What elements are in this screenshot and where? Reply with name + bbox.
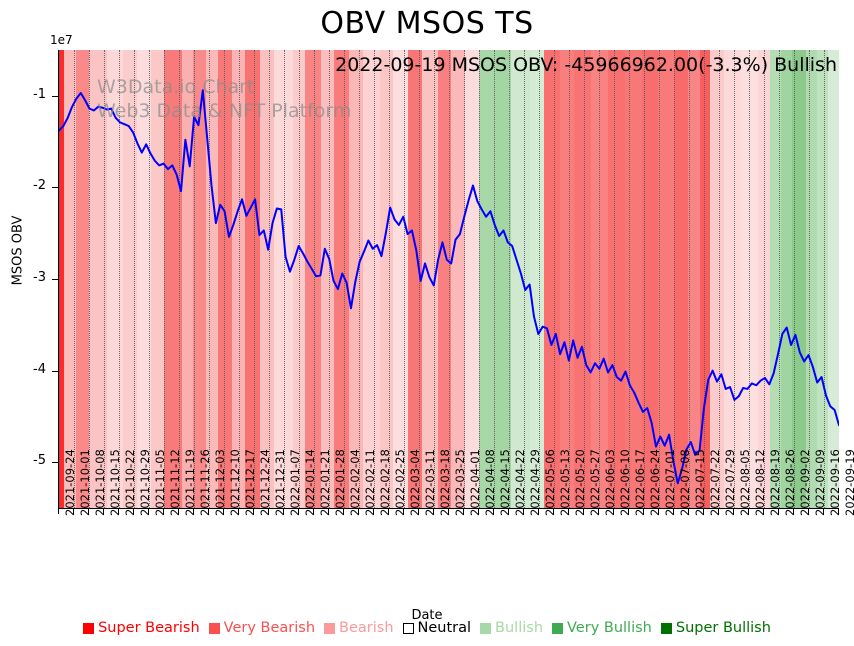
x-tick-label: 2021-09-24 bbox=[63, 449, 77, 516]
x-tick-label: 2022-05-27 bbox=[588, 449, 602, 516]
x-tick-label: 2021-10-08 bbox=[93, 449, 107, 516]
x-tick-label: 2022-06-03 bbox=[603, 449, 617, 516]
legend-item[interactable]: Bearish bbox=[324, 620, 394, 636]
x-tick-label: 2022-06-17 bbox=[633, 449, 647, 516]
x-tick-label: 2021-11-19 bbox=[183, 449, 197, 516]
x-tick-label: 2022-07-29 bbox=[723, 449, 737, 516]
x-tick-label: 2022-04-29 bbox=[528, 449, 542, 516]
x-tick-label: 2022-04-08 bbox=[483, 449, 497, 516]
x-tick-label: 2022-06-10 bbox=[618, 449, 632, 516]
legend-label: Super Bullish bbox=[676, 620, 771, 636]
legend-label: Super Bearish bbox=[98, 620, 200, 636]
legend-item[interactable]: Very Bearish bbox=[209, 620, 315, 636]
x-tick-label: 2022-02-11 bbox=[363, 449, 377, 516]
x-tick-label: 2022-09-02 bbox=[798, 449, 812, 516]
chart-figure: OBV MSOS TS 1e7 MSOS OBV Date -1-2-3-4-5… bbox=[0, 0, 854, 646]
legend-item[interactable]: Neutral bbox=[403, 620, 472, 636]
legend-label: Bullish bbox=[495, 620, 543, 636]
x-tick-label: 2021-12-03 bbox=[213, 449, 227, 516]
x-tick-label: 2022-02-18 bbox=[378, 449, 392, 516]
legend-item[interactable]: Bullish bbox=[480, 620, 543, 636]
legend-item[interactable]: Super Bearish bbox=[83, 620, 200, 636]
x-tick-label: 2022-07-15 bbox=[693, 449, 707, 516]
current-value-annotation: 2022-09-19 MSOS OBV: -45966962.00(-3.3%)… bbox=[335, 54, 837, 76]
x-tick-label: 2022-08-19 bbox=[768, 449, 782, 516]
x-tick-label: 2022-05-06 bbox=[543, 449, 557, 516]
x-tick-label: 2021-11-26 bbox=[198, 449, 212, 516]
x-tick-label: 2021-10-01 bbox=[78, 449, 92, 516]
x-tick-label: 2022-09-16 bbox=[828, 449, 842, 516]
y-axis-offset-text: 1e7 bbox=[50, 33, 73, 47]
x-tick-mark bbox=[58, 509, 59, 514]
legend-item[interactable]: Very Bullish bbox=[552, 620, 652, 636]
x-tick-label: 2022-04-15 bbox=[498, 449, 512, 516]
legend-swatch-icon bbox=[552, 623, 563, 634]
legend-swatch-icon bbox=[480, 623, 491, 634]
x-tick-label: 2022-03-25 bbox=[453, 449, 467, 516]
legend-swatch-icon bbox=[324, 623, 335, 634]
x-tick-label: 2022-08-12 bbox=[753, 449, 767, 516]
x-tick-label: 2021-12-24 bbox=[258, 449, 272, 516]
plot-area: W3Data.io Chart Web3 Data & NFT Platform… bbox=[58, 50, 839, 509]
x-tick-label: 2022-01-28 bbox=[333, 449, 347, 516]
legend-swatch-icon bbox=[209, 623, 220, 634]
x-tick-label: 2021-12-31 bbox=[273, 449, 287, 516]
x-tick-label: 2022-08-05 bbox=[738, 449, 752, 516]
x-tick-label: 2021-10-15 bbox=[108, 449, 122, 516]
x-tick-label: 2021-10-22 bbox=[123, 449, 137, 516]
x-tick-label: 2022-07-22 bbox=[708, 449, 722, 516]
x-tick-label: 2022-05-13 bbox=[558, 449, 572, 516]
legend-item[interactable]: Super Bullish bbox=[661, 620, 771, 636]
x-tick-label: 2022-09-09 bbox=[813, 449, 827, 516]
x-tick-label: 2022-07-01 bbox=[663, 449, 677, 516]
x-tick-label: 2022-09-19 bbox=[843, 449, 854, 516]
y-axis-label: MSOS OBV bbox=[11, 181, 26, 321]
x-tick-label: 2022-02-04 bbox=[348, 449, 362, 516]
legend-swatch-icon bbox=[83, 623, 94, 634]
x-tick-label: 2022-05-20 bbox=[573, 449, 587, 516]
legend-swatch-icon bbox=[661, 623, 672, 634]
sentiment-legend: Super BearishVery BearishBearishNeutralB… bbox=[0, 620, 854, 636]
y-tick-label: -4 bbox=[33, 362, 46, 377]
y-tick-label: -2 bbox=[33, 178, 46, 193]
legend-label: Neutral bbox=[418, 620, 472, 636]
x-tick-label: 2021-12-17 bbox=[243, 449, 257, 516]
x-tick-label: 2022-06-24 bbox=[648, 449, 662, 516]
x-tick-label: 2021-11-12 bbox=[168, 449, 182, 516]
x-tick-label: 2021-10-29 bbox=[138, 449, 152, 516]
x-tick-label: 2022-04-01 bbox=[468, 449, 482, 516]
y-tick-label: -1 bbox=[33, 87, 46, 102]
x-tick-label: 2022-01-21 bbox=[318, 449, 332, 516]
y-tick-label: -3 bbox=[33, 270, 46, 285]
legend-label: Very Bullish bbox=[567, 620, 652, 636]
legend-label: Bearish bbox=[339, 620, 394, 636]
x-tick-label: 2022-03-04 bbox=[408, 449, 422, 516]
x-tick-label: 2022-02-25 bbox=[393, 449, 407, 516]
x-tick-label: 2022-01-07 bbox=[288, 449, 302, 516]
x-tick-label: 2021-12-10 bbox=[228, 449, 242, 516]
x-tick-label: 2022-03-18 bbox=[438, 449, 452, 516]
x-tick-label: 2022-07-08 bbox=[678, 449, 692, 516]
x-tick-label: 2022-01-14 bbox=[303, 449, 317, 516]
x-tick-label: 2022-03-11 bbox=[423, 449, 437, 516]
annotation-layer: 2022-09-19 MSOS OBV: -45966962.00(-3.3%)… bbox=[59, 50, 839, 508]
y-tick-label: -5 bbox=[33, 453, 46, 468]
x-tick-label: 2021-11-05 bbox=[153, 449, 167, 516]
legend-label: Very Bearish bbox=[224, 620, 315, 636]
x-tick-label: 2022-04-22 bbox=[513, 449, 527, 516]
chart-title: OBV MSOS TS bbox=[0, 6, 854, 41]
legend-swatch-icon bbox=[403, 623, 414, 634]
x-tick-label: 2022-08-26 bbox=[783, 449, 797, 516]
